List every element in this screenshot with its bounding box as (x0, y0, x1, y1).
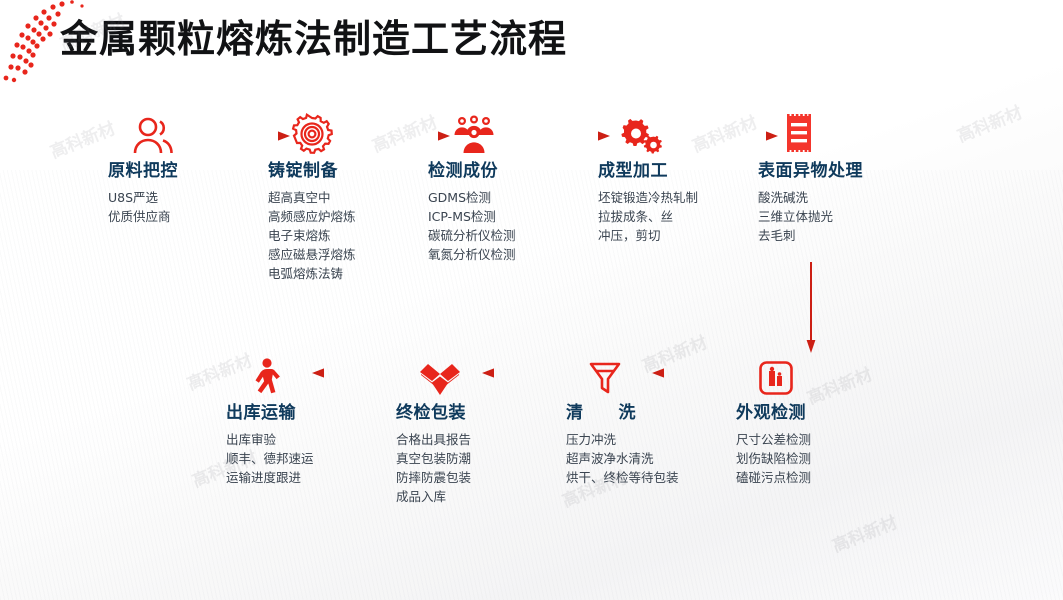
step-detail-line: 压力冲洗 (566, 430, 686, 449)
step-detail-line: 高频感应炉熔炼 (268, 207, 438, 226)
step-detail-line: 合格出具报告 (396, 430, 540, 449)
step-title: 终检包装 (370, 402, 540, 424)
two-gears-icon (598, 110, 768, 154)
step-detail-line: GDMS检测 (428, 188, 598, 207)
step-detail-line: 酸洗碱洗 (758, 188, 948, 207)
step-detail-line: 超高真空中 (268, 188, 438, 207)
step-detail-line: 真空包装防潮 (396, 449, 540, 468)
step-title: 外观检测 (710, 402, 885, 424)
step-detail-line: 烘干、终检等待包装 (566, 468, 686, 487)
step-detail-line: 拉拔成条、丝 (598, 207, 768, 226)
slide-canvas: 金属颗粒熔炼法制造工艺流程 高科新材 高科新材 高科新材 高科新材 高科新材 高… (0, 0, 1063, 600)
step-detail-line: ICP-MS检测 (428, 207, 598, 226)
step-detail-list: 超高真空中 高频感应炉熔炼 电子束熔炼 感应磁悬浮熔炼 电弧熔炼法铸 (268, 188, 438, 283)
funnel-icon (540, 352, 715, 396)
watermark: 高科新材 (953, 98, 1025, 147)
step-detail-line: 冲压，剪切 (598, 226, 768, 245)
step-detail-list: 坯锭锻造冷热轧制 拉拔成条、丝 冲压，剪切 (598, 188, 768, 245)
step-detail-list: 尺寸公差检测 划伤缺陷检测 磕碰污点检测 (710, 430, 885, 487)
step-detail-line: 运输进度跟进 (226, 468, 370, 487)
arrow-down-icon (805, 262, 817, 354)
step-detail-list: 合格出具报告 真空包装防潮 防摔防震包装 成品入库 (370, 430, 540, 506)
page-title: 金属颗粒熔炼法制造工艺流程 (60, 8, 567, 63)
step-detail-line: 电弧熔炼法铸 (268, 264, 438, 283)
flow-step-ingot-preparation[interactable]: 铸锭制备 超高真空中 高频感应炉熔炼 电子束熔炼 感应磁悬浮熔炼 电弧熔炼法铸 (268, 110, 438, 283)
step-title: 检测成份 (428, 160, 598, 182)
step-detail-line: 尺寸公差检测 (736, 430, 885, 449)
step-detail-line: 顺丰、德邦速运 (226, 449, 370, 468)
document-lines-icon (758, 110, 948, 154)
step-title: 出库运输 (200, 402, 370, 424)
step-detail-line: 划伤缺陷检测 (736, 449, 885, 468)
gear-rings-icon (268, 110, 438, 154)
flow-step-cleaning[interactable]: 清 洗 压力冲洗 超声波净水清洗 烘干、终检等待包装 (540, 352, 715, 487)
flow-step-surface-treatment[interactable]: 表面异物处理 酸洗碱洗 三维立体抛光 去毛刺 (758, 110, 948, 245)
step-detail-line: 超声波净水清洗 (566, 449, 686, 468)
two-people-icon (108, 110, 278, 154)
step-detail-list: GDMS检测 ICP-MS检测 碳硫分析仪检测 氧氮分析仪检测 (428, 188, 598, 264)
inspection-box-icon (710, 352, 885, 396)
step-detail-list: 压力冲洗 超声波净水清洗 烘干、终检等待包装 (540, 430, 715, 487)
walking-person-icon (200, 352, 370, 396)
step-detail-line: 三维立体抛光 (758, 207, 948, 226)
step-detail-line: 氧氮分析仪检测 (428, 245, 598, 264)
step-detail-line: 磕碰污点检测 (736, 468, 885, 487)
step-title: 清 洗 (540, 402, 715, 424)
step-detail-line: 坯锭锻造冷热轧制 (598, 188, 768, 207)
step-detail-line: 防摔防震包装 (396, 468, 540, 487)
step-detail-line: 感应磁悬浮熔炼 (268, 245, 438, 264)
step-detail-line: 优质供应商 (108, 207, 278, 226)
flow-step-composition-inspection[interactable]: 检测成份 GDMS检测 ICP-MS检测 碳硫分析仪检测 氧氮分析仪检测 (428, 110, 598, 264)
watermark: 高科新材 (828, 508, 900, 557)
step-detail-list: U8S严选 优质供应商 (108, 188, 278, 226)
flow-step-final-inspection-packaging[interactable]: 终检包装 合格出具报告 真空包装防潮 防摔防震包装 成品入库 (370, 352, 540, 506)
flow-step-appearance-inspection[interactable]: 外观检测 尺寸公差检测 划伤缺陷检测 磕碰污点检测 (710, 352, 885, 487)
people-group-icon (428, 110, 598, 154)
step-detail-line: 出库审验 (226, 430, 370, 449)
flow-step-outbound-transport[interactable]: 出库运输 出库审验 顺丰、德邦速运 运输进度跟进 (200, 352, 370, 487)
step-title: 成型加工 (598, 160, 768, 182)
flow-step-forming-processing[interactable]: 成型加工 坯锭锻造冷热轧制 拉拔成条、丝 冲压，剪切 (598, 110, 768, 245)
step-detail-list: 酸洗碱洗 三维立体抛光 去毛刺 (758, 188, 948, 245)
step-detail-list: 出库审验 顺丰、德邦速运 运输进度跟进 (200, 430, 370, 487)
open-box-icon (370, 352, 540, 396)
step-detail-line: 电子束熔炼 (268, 226, 438, 245)
step-title: 铸锭制备 (268, 160, 438, 182)
step-detail-line: 成品入库 (396, 487, 540, 506)
step-title: 表面异物处理 (758, 160, 948, 182)
flow-step-raw-material-control[interactable]: 原料把控 U8S严选 优质供应商 (108, 110, 278, 226)
step-detail-line: U8S严选 (108, 188, 278, 207)
step-detail-line: 去毛刺 (758, 226, 948, 245)
step-title: 原料把控 (108, 160, 278, 182)
step-detail-line: 碳硫分析仪检测 (428, 226, 598, 245)
